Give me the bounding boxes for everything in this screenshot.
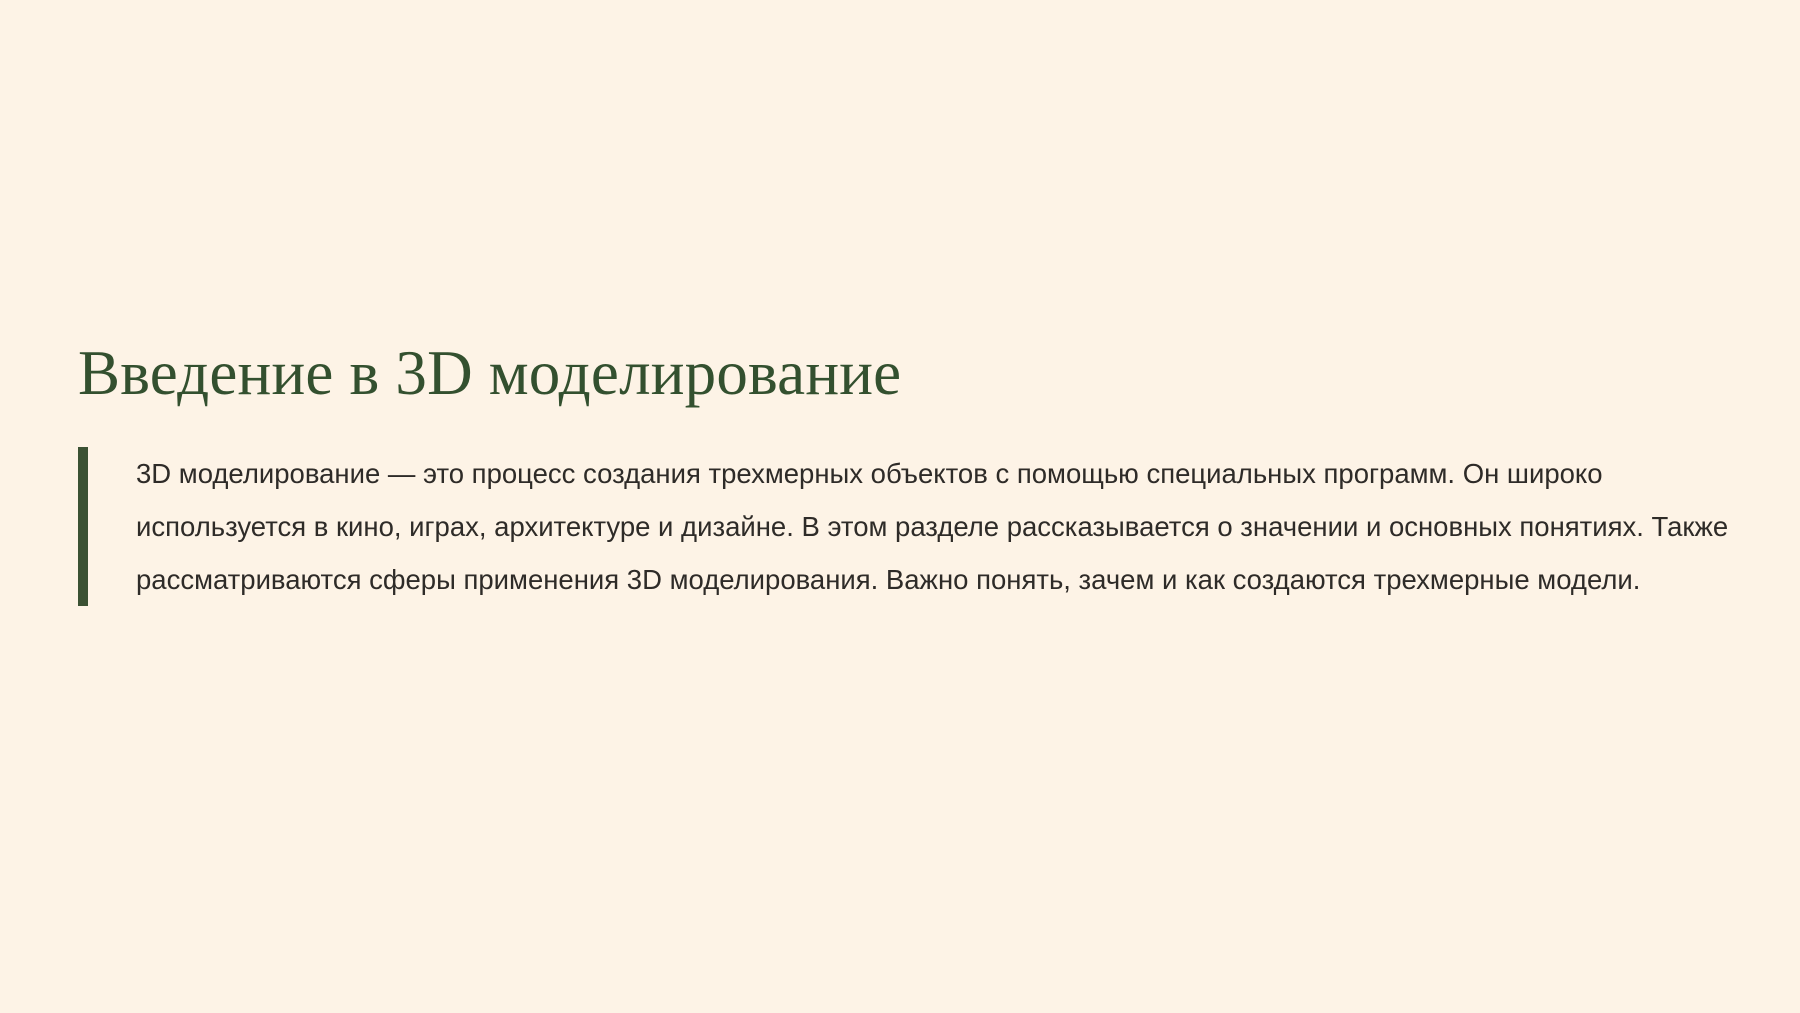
body-paragraph: 3D моделирование — это процесс создания … (136, 447, 1748, 606)
accent-bar (78, 447, 88, 606)
callout-block: 3D моделирование — это процесс создания … (78, 447, 1748, 606)
slide-page: Введение в 3D моделирование 3D моделиров… (0, 0, 1800, 1013)
content-container: Введение в 3D моделирование 3D моделиров… (78, 338, 1748, 606)
page-title: Введение в 3D моделирование (78, 338, 1748, 409)
